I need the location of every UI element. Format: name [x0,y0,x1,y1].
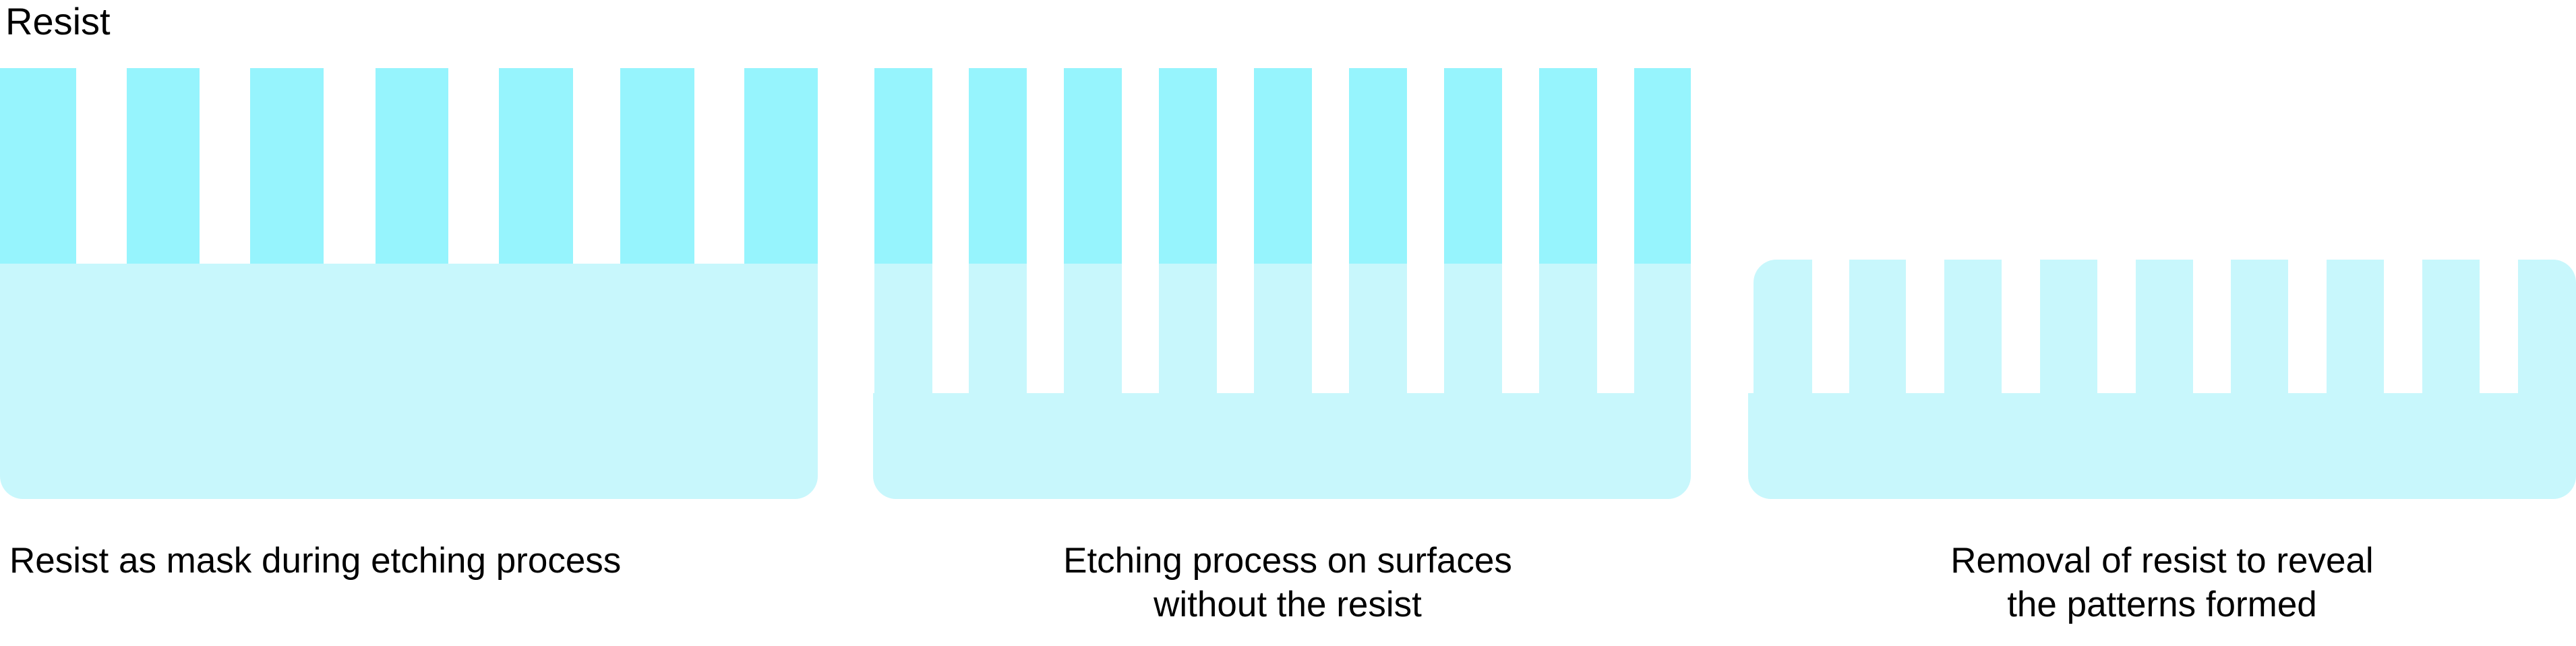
pattern-tooth-4 [2040,260,2097,393]
etched-column-6-substrate-pillar [1349,264,1407,393]
etched-column-2-resist-cap [969,68,1027,264]
substrate-base [1748,393,2576,499]
etched-column-5 [1254,0,1312,502]
etched-column-9-substrate-pillar [1634,264,1691,393]
panel-resist-as-mask: Resist as mask during etching process [0,0,826,533]
pattern-tooth-1 [1754,260,1812,393]
caption-line: Removal of resist to reveal [1748,539,2576,583]
panel-resist-removed: Removal of resist to reveal the patterns… [1748,0,2576,533]
etched-column-3-substrate-pillar [1064,264,1122,393]
etched-column-5-resist-cap [1254,68,1312,264]
panel-etching-process: Etching process on surfaces without the … [873,0,1702,533]
substrate-slab [0,264,818,499]
etched-column-8-substrate-pillar [1539,264,1597,393]
etched-column-2 [969,0,1027,502]
etched-column-9-resist-cap [1634,68,1691,264]
panel-caption: Resist as mask during etching process [0,539,826,583]
resist-bar-4 [376,68,448,264]
etched-column-3 [1064,0,1122,502]
etched-column-8 [1539,0,1597,502]
pattern-tooth-9 [2518,260,2576,393]
resist-bar-3 [250,68,324,264]
resist-bar-6 [620,68,694,264]
etched-column-2-substrate-pillar [969,264,1027,393]
caption-line: the patterns formed [1748,583,2576,627]
etched-column-3-resist-cap [1064,68,1122,264]
pattern-tooth-3 [1944,260,2002,393]
resist-bar-1 [0,68,76,264]
figure-etching-process [873,0,1702,502]
figure-resist-removed [1748,0,2576,502]
etched-column-6-resist-cap [1349,68,1407,264]
pattern-tooth-5 [2136,260,2193,393]
pattern-tooth-6 [2231,260,2288,393]
etched-column-7 [1444,0,1502,502]
etched-column-6 [1349,0,1407,502]
etched-column-4-substrate-pillar [1159,264,1217,393]
etched-column-5-substrate-pillar [1254,264,1312,393]
caption-line: Resist as mask during etching process [9,539,826,583]
etched-column-4 [1159,0,1217,502]
pattern-tooth-8 [2422,260,2480,393]
pattern-tooth-2 [1849,260,1906,393]
figure-resist-as-mask [0,0,826,502]
etched-column-9 [1634,0,1691,502]
etched-column-7-resist-cap [1444,68,1502,264]
panel-caption: Removal of resist to reveal the patterns… [1748,539,2576,626]
etched-column-4-resist-cap [1159,68,1217,264]
diagram-canvas: Resist Resist as mask during etching pro… [0,0,2576,646]
panel-caption: Etching process on surfaces without the … [873,539,1702,626]
etched-column-1-resist-cap [874,68,932,264]
caption-line: without the resist [873,583,1702,627]
etched-column-7-substrate-pillar [1444,264,1502,393]
pattern-tooth-7 [2327,260,2384,393]
etched-column-1-substrate-pillar [874,264,932,393]
resist-bar-5 [499,68,573,264]
etched-column-1 [874,0,932,502]
caption-line: Etching process on surfaces [873,539,1702,583]
etched-column-8-resist-cap [1539,68,1597,264]
resist-bar-7 [744,68,818,264]
resist-bar-2 [127,68,200,264]
